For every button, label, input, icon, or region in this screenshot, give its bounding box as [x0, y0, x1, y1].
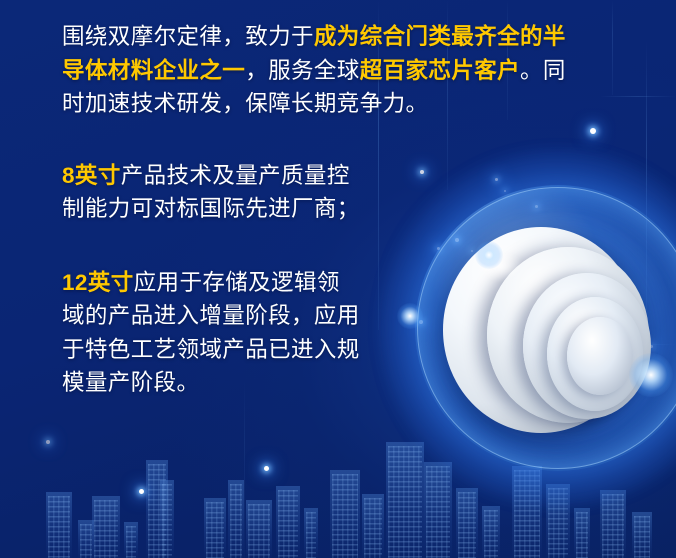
skyline-building: [160, 480, 174, 558]
skyline-building: [424, 462, 452, 558]
circuit-line-horizontal: [600, 96, 676, 97]
skyline-building: [632, 512, 652, 558]
glow-dot: [624, 360, 628, 364]
skyline-building: [204, 498, 226, 558]
glow-dot: [590, 128, 596, 134]
circuit-line-vertical: [646, 40, 647, 340]
highlight-run: 12英寸: [62, 270, 134, 295]
skyline-building: [512, 466, 542, 558]
text-run: 围绕双摩尔定律，致力于: [62, 24, 314, 49]
skyline-building: [46, 492, 72, 558]
glow-dot: [603, 296, 606, 299]
skyline-building: [124, 522, 138, 558]
skyline-building: [304, 508, 318, 558]
skyline-building: [246, 500, 272, 558]
glow-dot: [264, 466, 269, 471]
skyline-building: [574, 508, 590, 558]
city-skyline-silhouette: [0, 428, 676, 558]
text-run: ，服务全球: [245, 58, 360, 83]
skyline-building: [386, 442, 424, 558]
poster-canvas: 围绕双摩尔定律，致力于成为综合门类最齐全的半导体材料企业之一，服务全球超百家芯片…: [0, 0, 676, 558]
glow-dot: [641, 378, 644, 381]
skyline-building: [456, 488, 478, 558]
text-content-column: 围绕双摩尔定律，致力于成为综合门类最齐全的半导体材料企业之一，服务全球超百家芯片…: [62, 20, 582, 400]
skyline-building: [482, 506, 500, 558]
sphere-flare: [629, 353, 673, 397]
circuit-line-vertical: [612, 0, 613, 95]
glow-dot: [46, 440, 50, 444]
paragraph-8-inch-capability: 8英寸产品技术及量产质量控制能力可对标国际先进厂商；: [62, 159, 362, 226]
skyline-building: [600, 490, 626, 558]
skyline-building: [362, 494, 384, 558]
paragraph-12-inch-capability: 12英寸应用于存储及逻辑领域的产品进入增量阶段，应用于特色工艺领域产品已进入规模…: [62, 266, 362, 400]
skyline-building: [330, 470, 360, 558]
skyline-building: [228, 480, 244, 558]
highlight-run: 超百家芯片客户: [360, 58, 520, 83]
highlight-run: 8英寸: [62, 163, 121, 188]
skyline-building: [546, 484, 570, 558]
glow-dot: [636, 320, 640, 324]
paragraph-vision-statement: 围绕双摩尔定律，致力于成为综合门类最齐全的半导体材料企业之一，服务全球超百家芯片…: [62, 20, 574, 121]
circuit-line-vertical: [244, 380, 245, 558]
skyline-building: [78, 520, 94, 558]
glow-dot: [650, 345, 653, 348]
skyline-building: [276, 486, 300, 558]
glow-dot: [139, 489, 144, 494]
circuit-line-horizontal: [612, 344, 676, 345]
skyline-building: [92, 496, 120, 558]
skyline-building: [146, 460, 168, 558]
